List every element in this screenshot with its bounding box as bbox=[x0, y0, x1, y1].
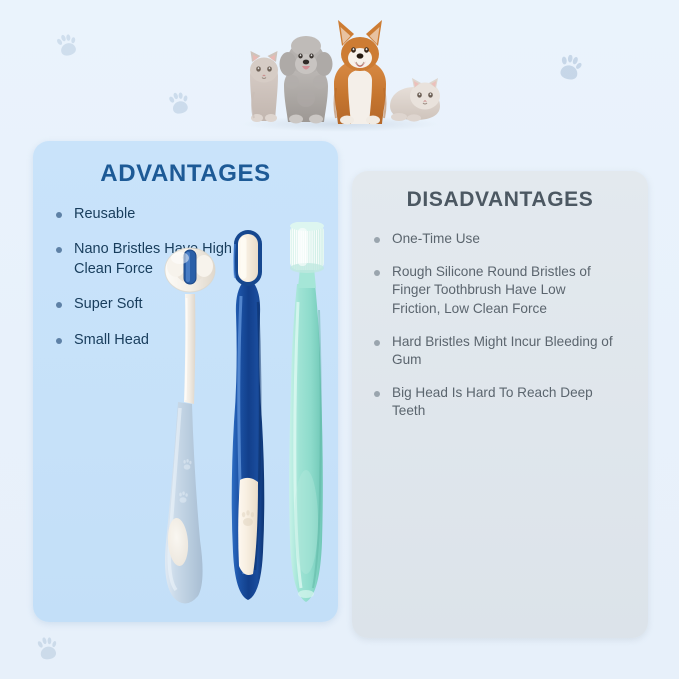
paw-print-icon bbox=[554, 53, 584, 85]
list-item: Hard Bristles Might Incur Bleeding of Gu… bbox=[372, 333, 627, 369]
three-sided-toothbrush bbox=[165, 248, 215, 604]
disadvantages-list: One-Time Use Rough Silicone Round Bristl… bbox=[352, 230, 648, 421]
disadvantages-panel: DISADVANTAGES One-Time Use Rough Silicon… bbox=[352, 171, 648, 638]
advantages-title: ADVANTAGES bbox=[33, 141, 338, 188]
disadvantages-title: DISADVANTAGES bbox=[352, 171, 648, 212]
paw-print-icon bbox=[165, 90, 192, 119]
mint-nano-toothbrush bbox=[289, 222, 324, 602]
list-item: One-Time Use bbox=[372, 230, 636, 248]
paw-print-icon bbox=[53, 31, 81, 60]
list-item: Big Head Is Hard To Reach Deep Teeth bbox=[372, 384, 617, 420]
pet-toothbrush-trio bbox=[140, 222, 345, 622]
blue-nano-toothbrush bbox=[232, 230, 265, 600]
paw-print-icon bbox=[34, 635, 61, 664]
infographic-canvas: ADVANTAGES Reusable Nano Bristles Have H… bbox=[0, 0, 679, 679]
list-item: Rough Silicone Round Bristles of Finger … bbox=[372, 263, 607, 318]
pets-group-photo bbox=[232, 6, 448, 132]
